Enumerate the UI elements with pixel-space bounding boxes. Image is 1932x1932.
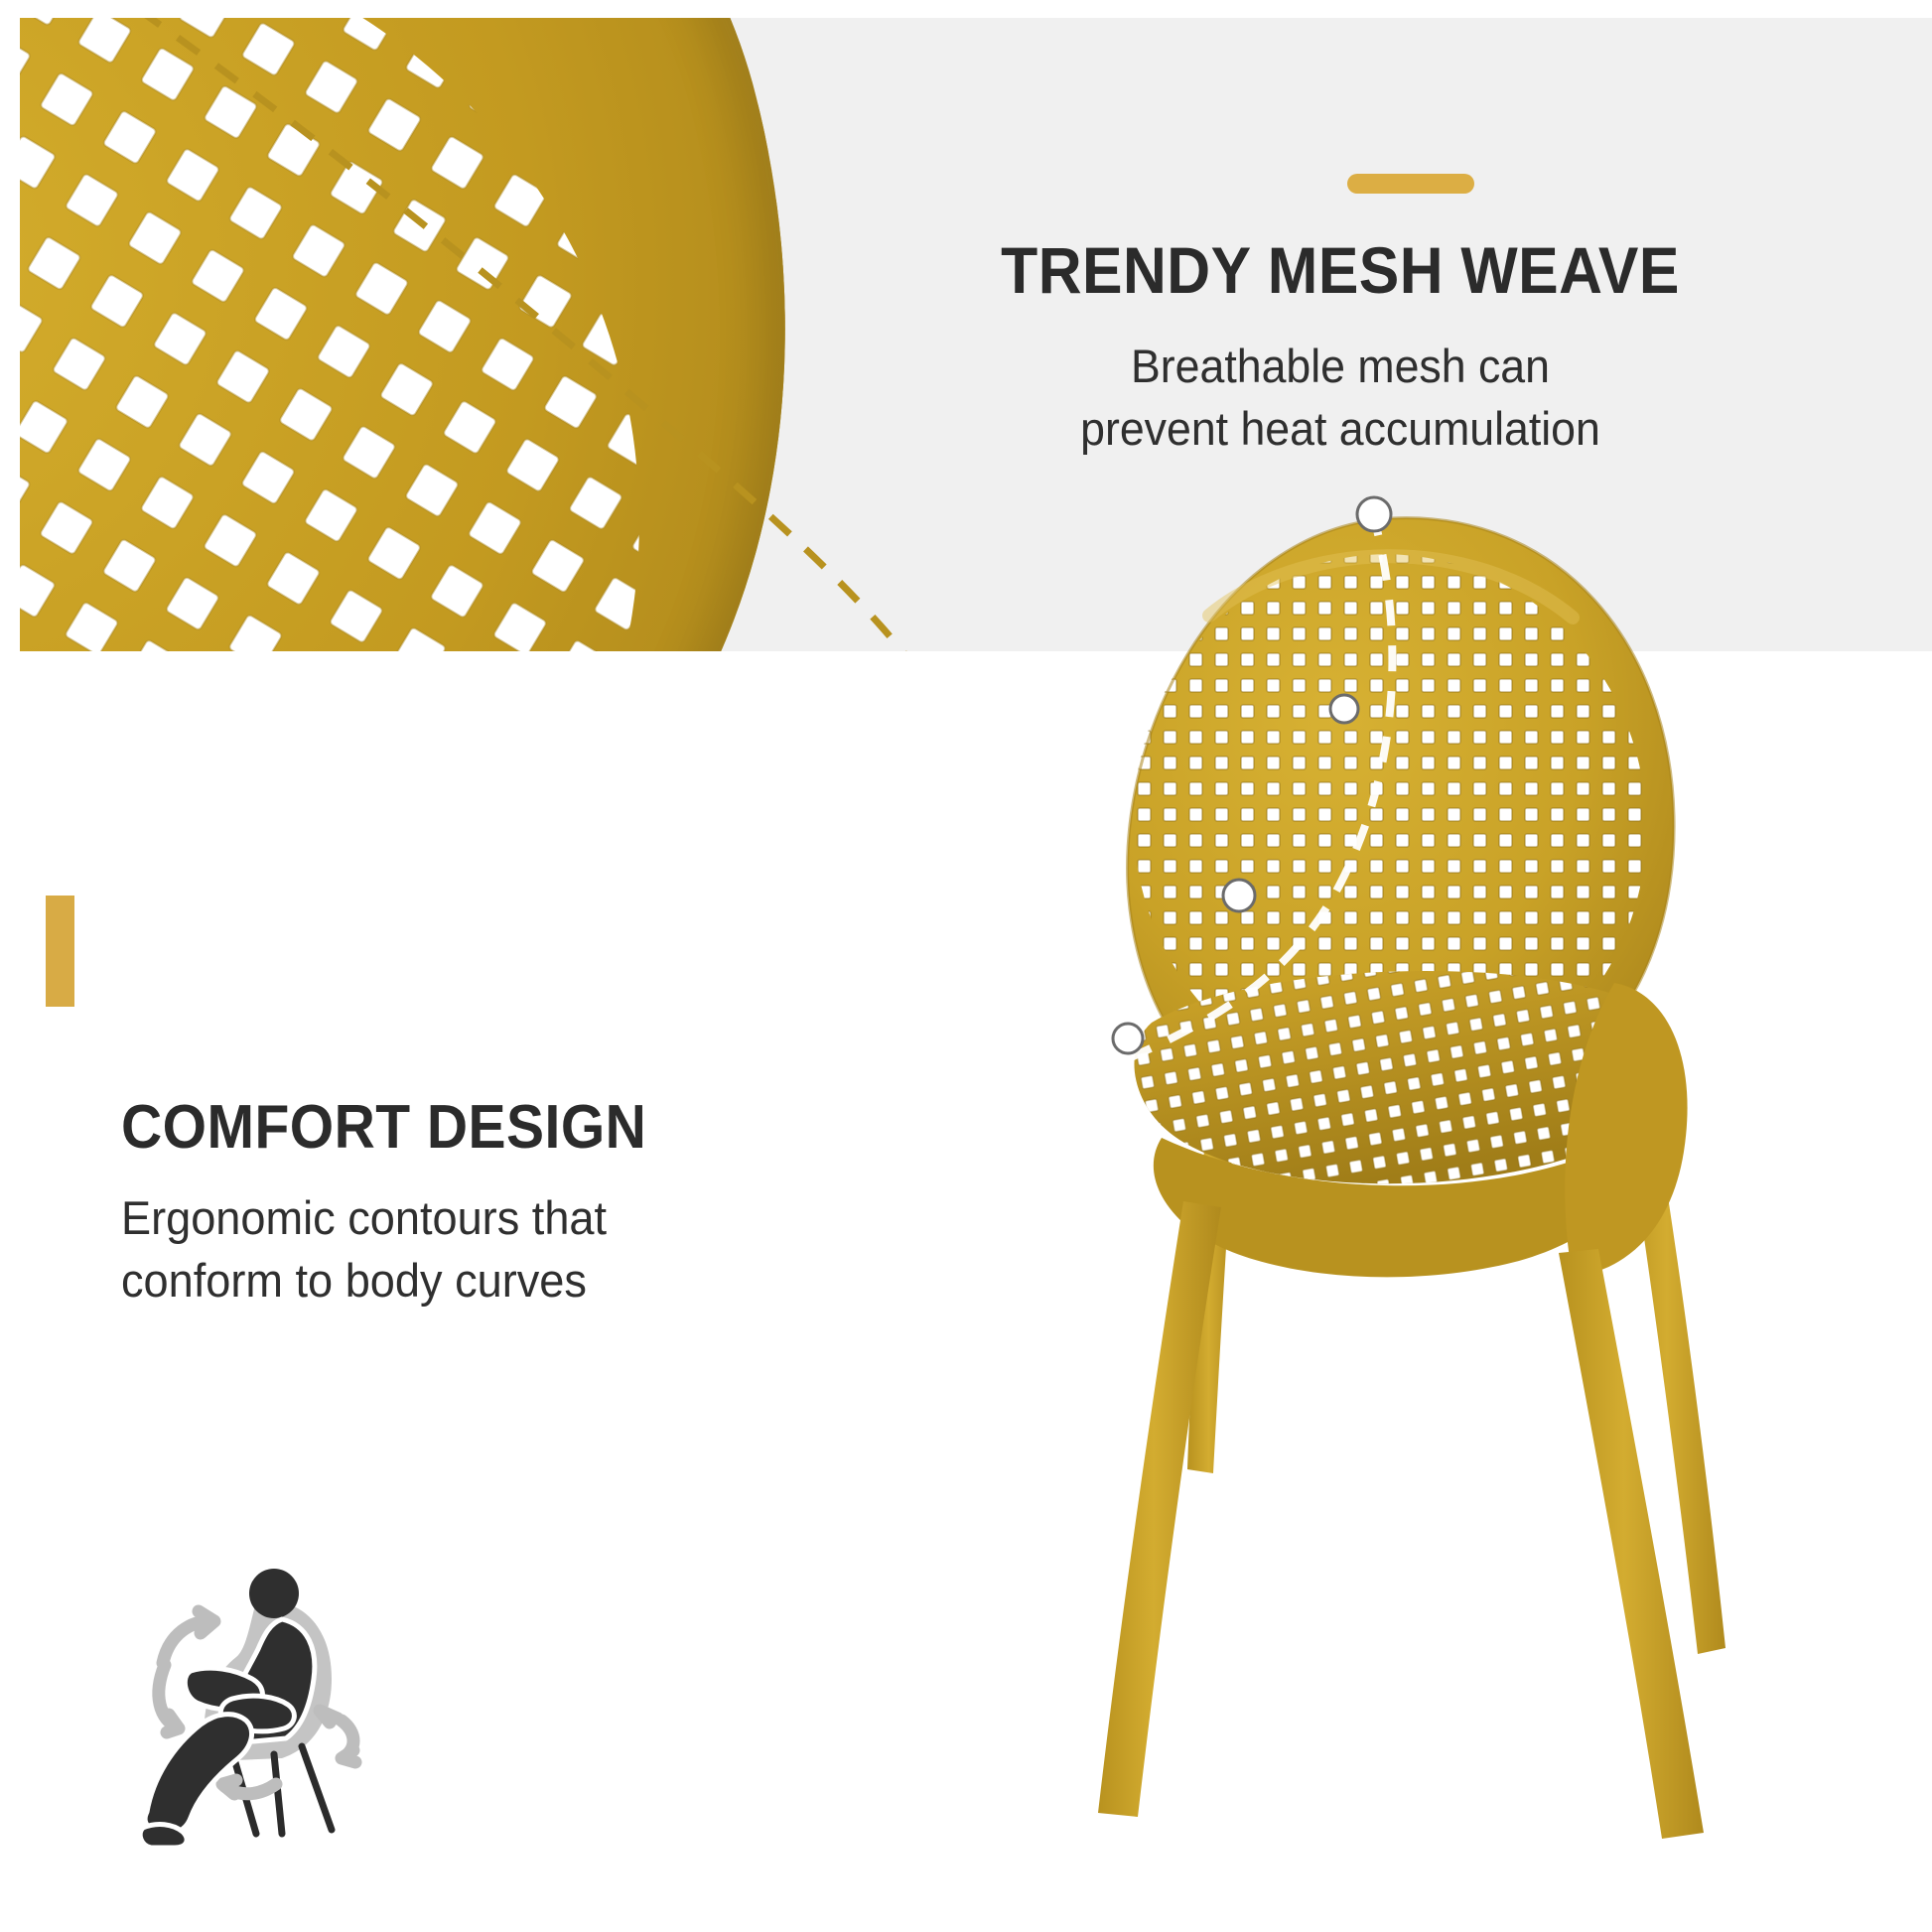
top-subtitle-line-2: prevent heat accumulation xyxy=(812,398,1868,461)
top-section-subtitle: Breathable mesh can prevent heat accumul… xyxy=(812,336,1868,460)
contour-marker xyxy=(1113,1024,1143,1053)
top-subtitle-line-1: Breathable mesh can xyxy=(812,336,1868,398)
infographic-canvas: TRENDY MESH WEAVE Breathable mesh can pr… xyxy=(0,0,1932,1932)
contour-marker xyxy=(1357,497,1391,531)
mesh-chair-product-image xyxy=(1003,467,1827,1876)
contour-marker xyxy=(1223,880,1255,911)
bottom-subtitle-line-1: Ergonomic contours that xyxy=(121,1187,807,1250)
bottom-section-subtitle: Ergonomic contours that conform to body … xyxy=(121,1187,807,1311)
gold-pill-bar xyxy=(1347,174,1474,194)
bottom-section-title: COMFORT DESIGN xyxy=(121,1092,646,1163)
gold-rect-bar xyxy=(46,896,74,1007)
seated-person-ergonomic-icon xyxy=(107,1554,375,1852)
top-section-title: TRENDY MESH WEAVE xyxy=(829,232,1852,308)
contour-marker xyxy=(1330,695,1358,723)
bottom-subtitle-line-2: conform to body curves xyxy=(121,1250,807,1312)
chair-leg-front-left xyxy=(1098,1201,1221,1817)
